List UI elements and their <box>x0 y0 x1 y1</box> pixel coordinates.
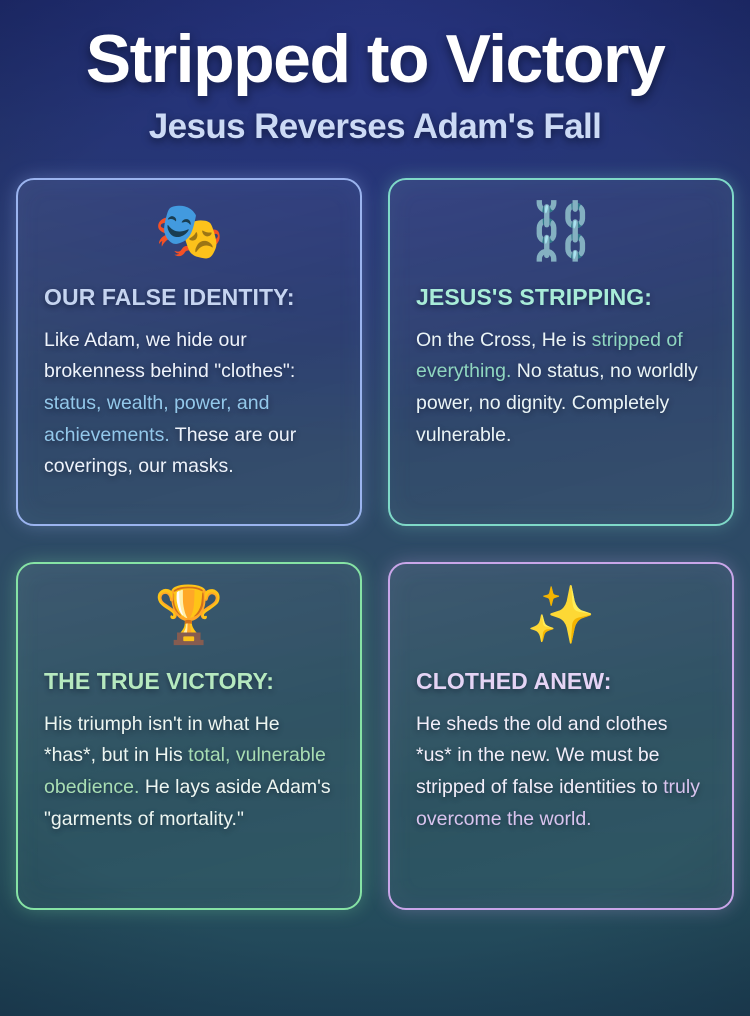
card-jesuss-stripping[interactable]: ⛓️ JESUS'S STRIPPING: On the Cross, He i… <box>388 178 734 526</box>
card-body-before: On the Cross, He is <box>416 329 592 351</box>
trophy-icon: 🏆 <box>44 588 334 662</box>
performing-arts-masks-icon: 🎭 <box>44 204 334 278</box>
card-body: On the Cross, He is stripped of everythi… <box>416 325 706 451</box>
sparkles-icon: ✨ <box>416 588 706 662</box>
card-heading: OUR FALSE IDENTITY: <box>44 284 334 310</box>
card-body: He sheds the old and clothes *us* in the… <box>416 709 706 835</box>
card-body: Like Adam, we hide our brokenness behind… <box>44 325 334 483</box>
card-body-before: Like Adam, we hide our brokenness behind… <box>44 329 295 383</box>
infographic-poster: Stripped to Victory Jesus Reverses Adam'… <box>0 0 750 1016</box>
card-the-true-victory[interactable]: 🏆 THE TRUE VICTORY: His triumph isn't in… <box>16 562 362 910</box>
chains-icon: ⛓️ <box>416 204 706 278</box>
card-heading: THE TRUE VICTORY: <box>44 668 334 694</box>
page-title: Stripped to Victory <box>22 26 728 93</box>
card-grid: 🎭 OUR FALSE IDENTITY: Like Adam, we hide… <box>0 145 750 940</box>
card-clothed-anew[interactable]: ✨ CLOTHED ANEW: He sheds the old and clo… <box>388 562 734 910</box>
card-body: His triumph isn't in what He *has*, but … <box>44 709 334 835</box>
page-subtitle: Jesus Reverses Adam's Fall <box>22 109 728 146</box>
card-body-before: He sheds the old and clothes *us* in the… <box>416 713 668 798</box>
card-heading: CLOTHED ANEW: <box>416 668 706 694</box>
card-heading: JESUS'S STRIPPING: <box>416 284 706 310</box>
card-our-false-identity[interactable]: 🎭 OUR FALSE IDENTITY: Like Adam, we hide… <box>16 178 362 526</box>
header: Stripped to Victory Jesus Reverses Adam'… <box>0 0 750 145</box>
